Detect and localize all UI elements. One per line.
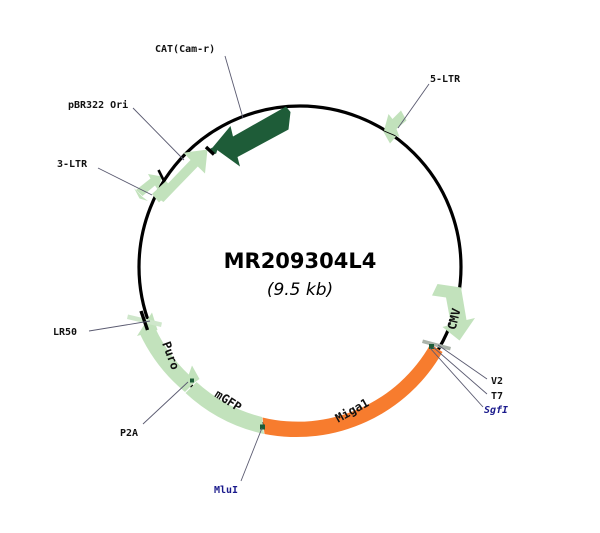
label-lr50: LR50 [53, 327, 77, 338]
feature-p2a[interactable] [190, 379, 194, 383]
leader-5-ltr [398, 84, 429, 128]
label-cat: CAT(Cam-r) [155, 44, 215, 55]
leader-cat [225, 56, 243, 118]
leader-v2 [438, 345, 487, 379]
leader-3-ltr [98, 168, 152, 195]
label-pbr322-ori: pBR322 Ori [68, 99, 128, 111]
label-3-ltr: 3-LTR [57, 159, 88, 170]
plasmid-name: MR209304L4 [224, 249, 377, 273]
feature-miga1[interactable] [263, 344, 443, 437]
label-t7: T7 [491, 391, 503, 402]
label-mlui: MluI [214, 485, 238, 496]
mlui-marker [260, 425, 265, 430]
leader-lr50 [89, 321, 150, 331]
leader-pbr322-ori [133, 108, 184, 160]
plasmid-size: (9.5 kb) [267, 280, 333, 300]
label-sgfi: SgfI [484, 405, 508, 416]
leader-mlui [241, 428, 262, 481]
leader-p2a [143, 382, 188, 424]
leader-sgfi [430, 348, 483, 407]
plasmid-map: CAT(Cam-r) pBR322 Ori 3-LTR 5-LTR LR50 P… [0, 0, 600, 533]
site-mlui-marker[interactable] [260, 425, 265, 430]
cat-arrow [213, 107, 291, 167]
label-5-ltr: 5-LTR [430, 74, 461, 85]
miga1-arc [263, 344, 443, 437]
label-v2: V2 [491, 376, 503, 387]
p2a-marker [190, 379, 194, 383]
label-p2a: P2A [120, 428, 138, 439]
leader-t7 [433, 347, 487, 394]
